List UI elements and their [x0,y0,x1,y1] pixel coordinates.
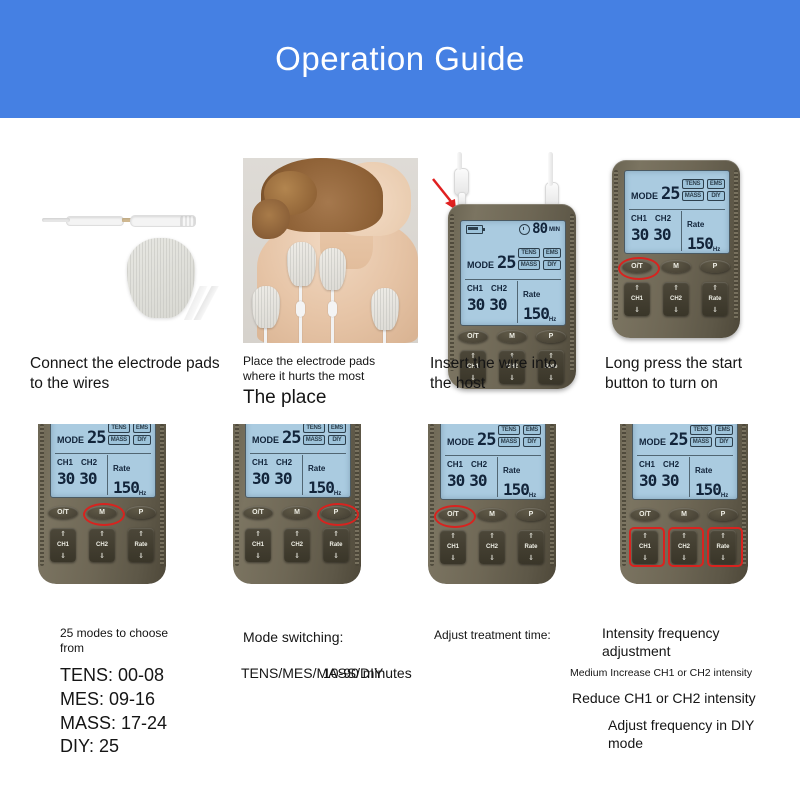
ch1-value: 30 [631,225,648,244]
ch1-up-icon[interactable]: ⇑ [450,532,456,540]
mode-range-mes: MES: 09-16 [60,688,250,712]
rate-down-icon[interactable]: ⇓ [712,306,718,314]
page-title: Operation Guide [275,40,525,78]
ch2-label: CH2 [81,458,97,467]
wire-cord-loose [457,152,462,170]
lcd-vertical-divider [517,281,518,323]
mode-button[interactable]: M [497,330,527,343]
device-lcd-screen: MODE 25 TENS EMS MASS DIY CH1 CH2 30 30 [245,424,351,498]
step-place-pads: Place the electrode pads where it hurts … [243,158,418,343]
lcd-vertical-divider [107,455,108,495]
tag-diy: DIY [707,191,725,201]
ch1-label: CH1 [631,214,647,223]
device-grip-right [570,214,574,371]
rate-value: 150 [523,304,549,323]
rate-stepper-label: Rate [708,296,721,302]
ch2-value: 30 [661,471,678,490]
mode-button[interactable]: M [477,508,507,521]
ch2-stepper-label: CH2 [678,544,690,550]
device-adjust-time: MODE 25 TENS EMS MASS DIY CH1 CH2 30 30 [428,424,556,584]
rate-stepper-label: Rate [329,542,342,548]
lcd-divider [629,209,725,210]
rate-stepper[interactable]: ⇑ Rate ⇓ [702,282,728,316]
rate-down-icon[interactable]: ⇓ [720,554,726,562]
timer-unit: MIN [549,226,560,235]
mode-value: 25 [282,428,300,448]
device-grip-right [355,424,359,566]
rate-unit: Hz [529,493,536,499]
ch1-label: CH1 [447,460,463,469]
tag-ems: EMS [523,425,541,435]
ch2-stepper-label: CH2 [670,296,682,302]
mode-value: 25 [87,428,105,448]
ch2-down-icon[interactable]: ⇓ [681,554,687,562]
tag-ems: EMS [133,424,151,433]
tag-mass: MASS [690,437,712,447]
ch1-stepper[interactable]: ⇑ CH1 ⇓ [632,530,658,564]
timer-value: 80 [532,224,547,235]
device-grip-right [550,424,554,566]
device-intensity-frequency: MODE 25 TENS EMS MASS DIY CH1 CH2 30 30 [620,424,748,584]
ch2-value: 30 [653,225,670,244]
ch1-down-icon[interactable]: ⇓ [60,552,66,560]
device-grip-left [450,214,454,371]
rate-up-icon[interactable]: ⇑ [528,532,534,540]
power-button[interactable]: O/T [622,260,652,273]
device-grip-left [235,424,239,566]
device-grip-left [614,170,618,320]
rate-value: 150 [503,480,529,499]
rate-label: Rate [523,290,540,299]
tag-mass: MASS [682,191,704,201]
mode-label: MODE [631,191,658,201]
pause-button[interactable]: P [536,330,566,343]
mode-button[interactable]: M [661,260,691,273]
accessories-illustration [30,158,225,343]
mode-value: 25 [669,430,687,450]
ch2-label: CH2 [663,460,679,469]
ch1-stepper-label: CH1 [252,542,264,548]
tag-ems: EMS [715,425,733,435]
rate-value: 150 [695,480,721,499]
ch1-label: CH1 [252,458,268,467]
device-lcd-screen: MODE 25 TENS EMS MASS DIY CH1 CH2 30 30 [440,424,546,500]
ch2-up-icon[interactable]: ⇑ [673,284,679,292]
step-mode-select: MODE 25 TENS EMS MASS DIY CH1 CH2 30 30 [38,424,166,584]
ch1-value: 30 [447,471,464,490]
caption-intensity-frequency: Intensity frequency adjustment [602,624,787,660]
ch2-up-icon[interactable]: ⇑ [99,530,105,538]
mode-label: MODE [252,435,279,445]
ch1-down-icon[interactable]: ⇓ [450,554,456,562]
rate-up-icon[interactable]: ⇑ [333,530,339,538]
ch1-value: 30 [467,295,484,314]
ch2-stepper[interactable]: ⇑ CH2 ⇓ [663,282,689,316]
ch1-stepper-label: CH1 [57,542,69,548]
ch1-down-icon[interactable]: ⇓ [255,552,261,560]
rate-label: Rate [113,464,130,473]
caption-place-pads-sub: The place [243,386,423,410]
pause-button[interactable]: P [516,508,546,521]
rate-stepper[interactable]: ⇑ Rate ⇓ [518,530,544,564]
device-grip-left [40,424,44,566]
photo-electrode-pad [371,288,399,330]
pause-button[interactable]: P [126,506,156,519]
device-lcd-screen: MODE 25 TENS EMS MASS DIY CH1 CH2 30 30 [50,424,156,498]
power-button[interactable]: O/T [48,506,78,519]
device-grip-left [622,424,626,566]
mode-range-diy: DIY: 25 [60,735,250,759]
step-insert-wire: 80 MIN MODE 25 TENS EMS MASS DIY CH1 CH2 [430,152,558,337]
power-button[interactable]: O/T [243,506,273,519]
ch2-label: CH2 [276,458,292,467]
ch1-up-icon[interactable]: ⇑ [60,530,66,538]
battery-icon [466,225,483,234]
tag-tens: TENS [498,425,520,435]
power-button[interactable]: O/T [630,508,660,521]
ch1-stepper-label: CH1 [639,544,651,550]
rate-value: 150 [308,478,334,497]
mode-value: 25 [661,184,679,204]
ch2-value: 30 [79,469,96,488]
ch2-stepper-label: CH2 [96,542,108,548]
rate-unit: Hz [334,491,341,497]
device-mode-switching: MODE 25 TENS EMS MASS DIY CH1 CH2 30 30 [233,424,361,584]
rate-label: Rate [695,466,712,475]
tag-mass: MASS [108,435,130,445]
mode-range-list: TENS: 00-08 MES: 09-16 MASS: 17-24 DIY: … [60,664,250,759]
pause-button[interactable]: P [321,506,351,519]
ch1-label: CH1 [467,284,483,293]
ch2-value: 30 [274,469,291,488]
pause-button[interactable]: P [708,508,738,521]
tag-tens: TENS [303,424,325,433]
device-lcd-screen: MODE 25 TENS EMS MASS DIY CH1 CH2 30 30 [632,424,738,500]
ch1-stepper[interactable]: ⇑ CH1 ⇓ [245,528,271,562]
rate-value: 150 [687,234,713,253]
device-grip-left [430,424,434,566]
note-reduce-intensity: Reduce CH1 or CH2 intensity [572,689,787,707]
wire-connector-left [66,216,124,226]
lcd-divider [250,453,346,454]
ch2-stepper-label: CH2 [291,542,303,548]
ch2-label: CH2 [491,284,507,293]
step-intensity-frequency: MODE 25 TENS EMS MASS DIY CH1 CH2 30 30 [620,424,748,584]
lcd-divider [637,455,733,456]
wire-rings [180,215,196,227]
photo-electrode-pad [319,248,346,290]
ch1-value: 30 [639,471,656,490]
wire-cable-left [42,218,70,222]
lcd-vertical-divider [497,457,498,497]
caption-connect-pads: Connect the electrode pads to the wires [30,354,240,394]
ch2-stepper[interactable]: ⇑ CH2 ⇓ [284,528,310,562]
lcd-vertical-divider [689,457,690,497]
device-lcd-screen: 80 MIN MODE 25 TENS EMS MASS DIY CH1 CH2 [460,220,566,326]
rate-down-icon[interactable]: ⇓ [528,554,534,562]
mode-label: MODE [639,437,666,447]
ch2-up-icon[interactable]: ⇑ [681,532,687,540]
ch2-down-icon[interactable]: ⇓ [489,554,495,562]
rate-stepper[interactable]: ⇑ Rate ⇓ [128,528,154,562]
caption-power-on: Long press the start button to turn on [605,354,790,394]
mode-range-mass: MASS: 17-24 [60,712,250,736]
wire-cord-inserted [548,152,553,186]
ch2-down-icon[interactable]: ⇓ [673,306,679,314]
ch1-label: CH1 [639,460,655,469]
photo-wire-connector [328,301,337,317]
ch1-up-icon[interactable]: ⇑ [255,530,261,538]
rate-unit: Hz [549,317,556,323]
rate-unit: Hz [721,493,728,499]
step-adjust-time: MODE 25 TENS EMS MASS DIY CH1 CH2 30 30 [428,424,556,584]
tag-ems: EMS [328,424,346,433]
device-power-on: MODE 25 TENS EMS MASS DIY CH1 CH2 30 30 [612,160,740,338]
mode-label: MODE [57,435,84,445]
photo-electrode-pad [252,286,280,328]
note-increase-intensity: Medium Increase CH1 or CH2 intensity [570,667,790,681]
device-grip-right [160,424,164,566]
rate-unit: Hz [139,491,146,497]
tag-diy: DIY [523,437,541,447]
device-grip-right [734,170,738,320]
lcd-vertical-divider [302,455,303,495]
tag-diy: DIY [133,435,151,445]
ch1-stepper[interactable]: ⇑ CH1 ⇓ [50,528,76,562]
pause-button[interactable]: P [700,260,730,273]
ch1-stepper-label: CH1 [631,296,643,302]
ch1-stepper[interactable]: ⇑ CH1 ⇓ [624,282,650,316]
rate-stepper-label: Rate [134,542,147,548]
ch2-up-icon[interactable]: ⇑ [294,530,300,538]
ch1-stepper-label: CH1 [447,544,459,550]
rate-up-icon[interactable]: ⇑ [720,532,726,540]
neck-photo [243,158,418,343]
tag-ems: EMS [707,179,725,189]
tag-mass: MASS [518,260,540,270]
tag-mass: MASS [498,437,520,447]
mode-button[interactable]: M [87,506,117,519]
ch1-up-icon[interactable]: ⇑ [634,284,640,292]
ch2-up-icon[interactable]: ⇑ [489,532,495,540]
device-grip-right [742,424,746,566]
clock-icon [519,224,530,235]
rate-unit: Hz [713,247,720,253]
ch2-label: CH2 [471,460,487,469]
tag-tens: TENS [682,179,704,189]
ch2-stepper[interactable]: ⇑ CH2 ⇓ [671,530,697,564]
caption-mode-select: 25 modes to choose from [60,626,235,656]
mode-range-tens: TENS: 00-08 [60,664,250,688]
rate-down-icon[interactable]: ⇓ [333,552,339,560]
tag-diy: DIY [543,260,561,270]
ch1-label: CH1 [57,458,73,467]
ch2-value: 30 [469,471,486,490]
caption-insert-wire: Insert the wire into the host [430,354,610,394]
lcd-divider [55,453,151,454]
rate-stepper[interactable]: ⇑ Rate ⇓ [323,528,349,562]
rate-label: Rate [687,220,704,229]
mode-value: 25 [477,430,495,450]
device-lcd-screen: MODE 25 TENS EMS MASS DIY CH1 CH2 30 30 [624,170,730,254]
lcd-divider [465,279,561,280]
page-header: Operation Guide [0,0,800,118]
power-button[interactable]: O/T [458,330,488,343]
ch2-stepper[interactable]: ⇑ CH2 ⇓ [479,530,505,564]
caption-adjust-time-range: 10-90 minutes [323,664,508,682]
ch1-up-icon[interactable]: ⇑ [642,532,648,540]
ch2-stepper-label: CH2 [486,544,498,550]
lcd-vertical-divider [681,211,682,251]
ch2-down-icon[interactable]: ⇓ [99,552,105,560]
step-mode-switching: MODE 25 TENS EMS MASS DIY CH1 CH2 30 30 [233,424,361,584]
ch1-stepper[interactable]: ⇑ CH1 ⇓ [440,530,466,564]
mode-button[interactable]: M [282,506,312,519]
rate-stepper[interactable]: ⇑ Rate ⇓ [710,530,736,564]
ch2-stepper[interactable]: ⇑ CH2 ⇓ [89,528,115,562]
caption-adjust-time: Adjust treatment time: [434,628,619,643]
photo-electrode-pad [287,242,316,286]
ch2-label: CH2 [655,214,671,223]
ch2-down-icon[interactable]: ⇓ [294,552,300,560]
tag-tens: TENS [690,425,712,435]
tag-tens: TENS [108,424,130,433]
note-diy-frequency: Adjust frequency in DIY mode [608,716,793,752]
mode-button[interactable]: M [669,508,699,521]
tag-ems: EMS [543,248,561,258]
step-connect-pads: Connect the electrode pads to the wires [30,158,225,343]
ch2-value: 30 [489,295,506,314]
mode-label: MODE [467,260,494,270]
mode-value: 25 [497,253,515,273]
rate-up-icon[interactable]: ⇑ [712,284,718,292]
lcd-divider [445,455,541,456]
tag-diy: DIY [328,435,346,445]
caption-mode-switching: Mode switching: [243,628,433,646]
rate-label: Rate [503,466,520,475]
rate-label: Rate [308,464,325,473]
rate-stepper-label: Rate [716,544,729,550]
rate-down-icon[interactable]: ⇓ [138,552,144,560]
mode-label: MODE [447,437,474,447]
device-mode-select: MODE 25 TENS EMS MASS DIY CH1 CH2 30 30 [38,424,166,584]
caption-place-pads: Place the electrode pads where it hurts … [243,354,423,384]
tag-mass: MASS [303,435,325,445]
rate-stepper-label: Rate [524,544,537,550]
rate-value: 150 [113,478,139,497]
power-button[interactable]: O/T [438,508,468,521]
tag-diy: DIY [715,437,733,447]
ch1-value: 30 [252,469,269,488]
step-power-on: MODE 25 TENS EMS MASS DIY CH1 CH2 30 30 [612,160,740,338]
ch1-value: 30 [57,469,74,488]
rate-up-icon[interactable]: ⇑ [138,530,144,538]
tag-tens: TENS [518,248,540,258]
electrode-pad [127,238,195,318]
ch1-down-icon[interactable]: ⇓ [642,554,648,562]
photo-wire-connector [296,301,305,317]
ch1-down-icon[interactable]: ⇓ [634,306,640,314]
